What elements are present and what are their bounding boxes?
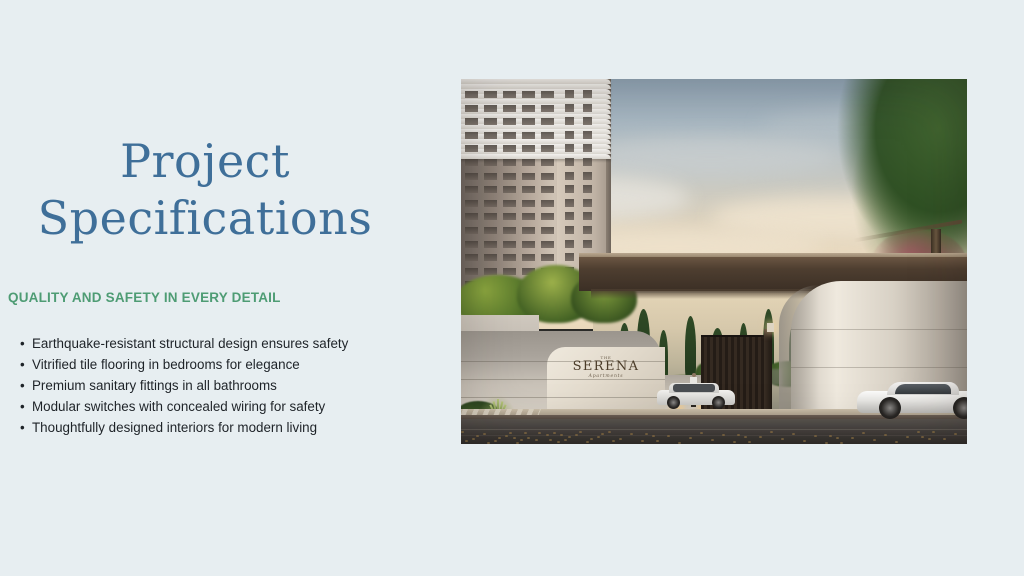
leaf — [487, 442, 490, 444]
leaf — [575, 434, 578, 436]
tower-window — [503, 173, 516, 180]
tower-window — [484, 254, 497, 261]
tower-window — [541, 118, 554, 125]
tower-window — [541, 213, 554, 220]
tower-window — [541, 145, 554, 152]
tower-window — [583, 158, 592, 166]
leaf — [520, 439, 523, 441]
gate-lamp — [767, 323, 774, 332]
tower-window — [565, 117, 574, 125]
list-item: Vitrified tile flooring in bedrooms for … — [20, 354, 420, 375]
tower-window — [522, 132, 535, 139]
road-marking — [461, 435, 967, 436]
leaf — [652, 435, 655, 437]
tower-window — [484, 91, 497, 98]
tower-window — [565, 185, 574, 193]
leaf — [928, 438, 931, 440]
tower-window — [484, 159, 497, 166]
tower-window — [503, 200, 516, 207]
leaf — [954, 433, 957, 435]
tower-window — [503, 91, 516, 98]
tower-window — [522, 173, 535, 180]
tower-window — [522, 227, 535, 234]
tower-window — [465, 118, 478, 125]
leaf — [803, 440, 806, 442]
right-volume-curve — [779, 285, 819, 423]
wall-seam — [791, 367, 967, 368]
road-marking — [461, 429, 967, 430]
leaf — [678, 442, 681, 444]
wheel — [667, 396, 680, 409]
tower-window — [465, 159, 478, 166]
leaf — [700, 432, 703, 434]
page-title: Project Specifications — [0, 133, 410, 247]
tower-window — [522, 105, 535, 112]
signage-name: SERENA — [569, 360, 643, 374]
tower-window — [465, 268, 478, 275]
leaf — [932, 431, 935, 433]
tower-window — [484, 132, 497, 139]
tower-window — [583, 131, 592, 139]
tower-window — [503, 241, 516, 248]
leaf — [781, 438, 784, 440]
leaf — [921, 436, 924, 438]
tower-window — [541, 173, 554, 180]
leaf — [895, 441, 898, 443]
leaf — [770, 431, 773, 433]
tower-window — [465, 173, 478, 180]
tower-window — [565, 90, 574, 98]
tower-window — [503, 105, 516, 112]
tower-window — [484, 268, 497, 275]
leaf — [564, 439, 567, 441]
tower-window — [465, 227, 478, 234]
signage-top-text: THE — [569, 355, 643, 360]
leaf — [612, 440, 615, 442]
list-item: Earthquake-resistant structural design e… — [20, 333, 420, 354]
tower-window — [503, 186, 516, 193]
leaf — [840, 442, 843, 444]
tower-window — [503, 159, 516, 166]
tower-window — [484, 213, 497, 220]
suv-windows — [673, 384, 715, 392]
tower-window — [465, 254, 478, 261]
leaf — [917, 431, 920, 433]
leaf — [549, 439, 552, 441]
leaf — [645, 433, 648, 435]
tower-window — [541, 159, 554, 166]
leaf — [494, 440, 497, 442]
tower-window — [541, 200, 554, 207]
leaf — [862, 432, 865, 434]
tower-window — [583, 172, 592, 180]
tower-window — [522, 91, 535, 98]
tower-window — [484, 241, 497, 248]
leaf — [836, 437, 839, 439]
leaf — [689, 437, 692, 439]
tower-window — [465, 213, 478, 220]
leaf — [619, 438, 622, 440]
leaf — [906, 436, 909, 438]
leaf — [505, 435, 508, 437]
leaf — [516, 442, 519, 444]
wall-seam — [791, 329, 967, 330]
tower-window — [503, 145, 516, 152]
tower-window — [565, 104, 574, 112]
leaf — [476, 435, 479, 437]
tower-window — [484, 145, 497, 152]
tower-window — [503, 213, 516, 220]
leaf — [498, 437, 501, 439]
leaf — [461, 431, 464, 433]
tower-window — [541, 132, 554, 139]
list-item: Premium sanitary fittings in all bathroo… — [20, 375, 420, 396]
project-signage: THE SERENA Apartments — [569, 355, 643, 379]
tower-window — [465, 132, 478, 139]
tower-window — [541, 186, 554, 193]
leaf — [579, 431, 582, 433]
tower-window — [465, 91, 478, 98]
project-render-image: THE SERENA Apartments — [461, 79, 967, 444]
tower-window — [465, 145, 478, 152]
specifications-list: Earthquake-resistant structural design e… — [20, 333, 420, 438]
title-line-2: Specifications — [0, 190, 410, 247]
tower-window — [565, 212, 574, 220]
title-line-1: Project — [0, 133, 410, 190]
cloud — [581, 137, 841, 177]
leaf — [557, 441, 560, 443]
tower-window — [484, 118, 497, 125]
tower-window — [522, 254, 535, 261]
tower-window — [522, 118, 535, 125]
leaf — [535, 439, 538, 441]
tower-window — [484, 186, 497, 193]
leaf — [943, 438, 946, 440]
signage-subtitle: Apartments — [569, 374, 643, 379]
wheel — [953, 397, 967, 419]
wheel — [712, 396, 725, 409]
tower-window — [583, 104, 592, 112]
tower-window — [465, 186, 478, 193]
tower-window — [583, 117, 592, 125]
leaf — [568, 436, 571, 438]
leaf — [733, 441, 736, 443]
tower-window — [484, 227, 497, 234]
tower-window — [565, 172, 574, 180]
leaf — [792, 433, 795, 435]
leaf — [711, 439, 714, 441]
tower-window — [465, 105, 478, 112]
tower-window — [583, 144, 592, 152]
tower-window — [465, 200, 478, 207]
wall-seam — [461, 379, 665, 380]
tower-window — [565, 144, 574, 152]
text-column: Project Specifications QUALITY AND SAFET… — [0, 0, 440, 576]
tower-window — [565, 158, 574, 166]
tower-window — [565, 253, 574, 261]
tower-window — [583, 199, 592, 207]
tower-window — [541, 227, 554, 234]
leaf — [873, 439, 876, 441]
tower-window — [565, 226, 574, 234]
leaf — [524, 432, 527, 434]
leaf — [884, 434, 887, 436]
tower-window — [503, 268, 516, 275]
tower-window — [503, 118, 516, 125]
tower-window — [583, 185, 592, 193]
leaf — [597, 436, 600, 438]
leaf — [560, 434, 563, 436]
leaf — [553, 432, 556, 434]
tower-window — [565, 240, 574, 248]
wheel — [879, 397, 901, 419]
leaf — [472, 438, 475, 440]
tower-window — [484, 173, 497, 180]
tower-window — [565, 131, 574, 139]
leaf — [538, 432, 541, 434]
leaf — [483, 433, 486, 435]
tower-window — [583, 226, 592, 234]
leaf — [590, 438, 593, 440]
tower-balconies — [461, 79, 611, 159]
white-suv — [657, 381, 735, 409]
sedan-windows — [895, 384, 951, 394]
tower-window — [522, 145, 535, 152]
tower-window — [541, 91, 554, 98]
leaf — [748, 441, 751, 443]
tower-window — [541, 241, 554, 248]
leaf — [509, 432, 512, 434]
slide: Project Specifications QUALITY AND SAFET… — [0, 0, 1024, 576]
leaf — [641, 440, 644, 442]
leaf — [759, 436, 762, 438]
leaf — [722, 434, 725, 436]
tower-window — [503, 227, 516, 234]
leaf — [829, 435, 832, 437]
tower-window — [583, 240, 592, 248]
tower-window — [541, 254, 554, 261]
leaf — [601, 433, 604, 435]
tower-window — [484, 105, 497, 112]
list-item: Modular switches with concealed wiring f… — [20, 396, 420, 417]
list-item: Thoughtfully designed interiors for mode… — [20, 417, 420, 438]
leaf — [630, 433, 633, 435]
tower-window — [522, 186, 535, 193]
leaf — [744, 436, 747, 438]
leaf — [667, 435, 670, 437]
section-subheading: QUALITY AND SAFETY IN EVERY DETAIL — [8, 290, 281, 305]
tower-window — [522, 241, 535, 248]
white-sedan — [857, 377, 967, 419]
leaf — [546, 434, 549, 436]
tower-window — [522, 200, 535, 207]
tower-window — [565, 199, 574, 207]
leaf — [851, 437, 854, 439]
leaf — [737, 434, 740, 436]
tower-window — [583, 90, 592, 98]
tower-window — [465, 241, 478, 248]
leaf — [465, 440, 468, 442]
leaf — [586, 441, 589, 443]
tower-window — [541, 105, 554, 112]
leaf — [527, 437, 530, 439]
tower-window — [522, 213, 535, 220]
tower-window — [503, 132, 516, 139]
tower-window — [583, 212, 592, 220]
leaf — [825, 442, 828, 444]
leaf — [513, 437, 516, 439]
leaf — [656, 440, 659, 442]
tower-window — [503, 254, 516, 261]
leaf — [814, 435, 817, 437]
leaf — [608, 431, 611, 433]
gate-post — [764, 329, 772, 417]
tower-window — [522, 159, 535, 166]
tower-window — [484, 200, 497, 207]
